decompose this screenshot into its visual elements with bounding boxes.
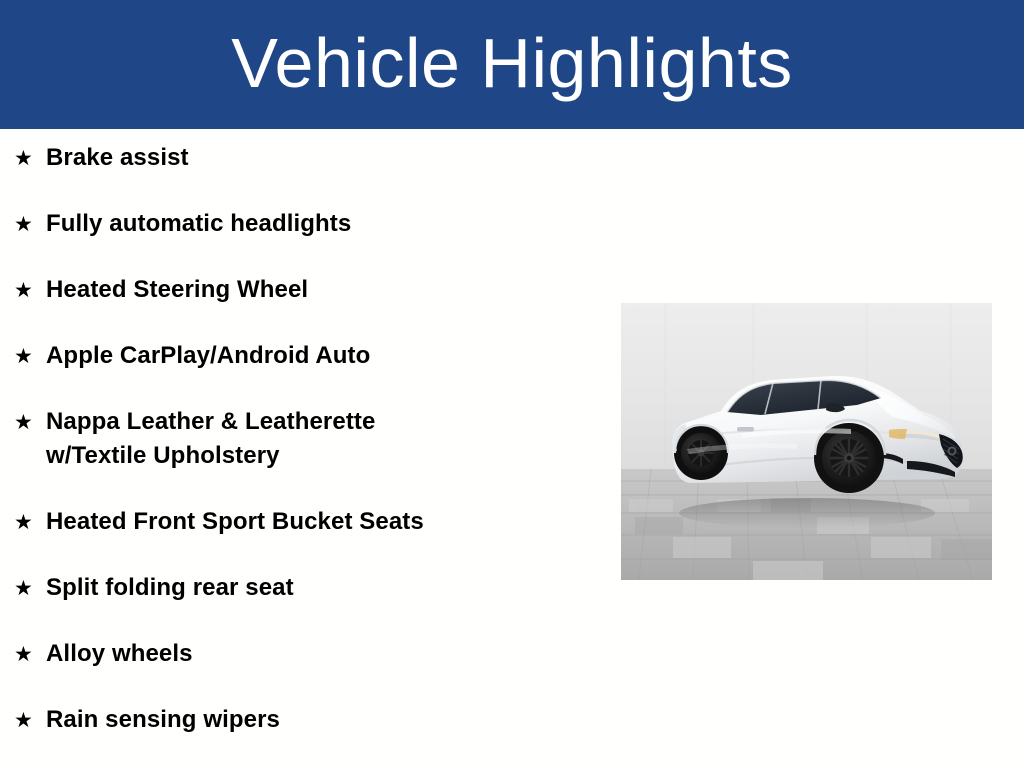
feature-label: Heated Front Sport Bucket Seats bbox=[46, 505, 612, 539]
list-item: ★ Rain sensing wipers bbox=[12, 703, 612, 737]
star-bullet-icon: ★ bbox=[12, 339, 46, 373]
list-item: ★ Split folding rear seat bbox=[12, 571, 612, 605]
header-banner: Vehicle Highlights bbox=[0, 0, 1024, 129]
feature-label: Nappa Leather & Leatherette w/Textile Up… bbox=[46, 405, 612, 473]
star-bullet-icon: ★ bbox=[12, 405, 46, 439]
list-item: ★ Heated Steering Wheel bbox=[12, 273, 612, 307]
star-bullet-icon: ★ bbox=[12, 571, 46, 605]
feature-label: Rain sensing wipers bbox=[46, 703, 612, 737]
feature-label: Brake assist bbox=[46, 141, 612, 175]
feature-label-line: w/Textile Upholstery bbox=[46, 439, 612, 473]
feature-label: Split folding rear seat bbox=[46, 571, 612, 605]
list-item: ★ Alloy wheels bbox=[12, 637, 612, 671]
feature-label: Alloy wheels bbox=[46, 637, 612, 671]
vehicle-photo-image bbox=[621, 303, 992, 580]
list-item: ★ Fully automatic headlights bbox=[12, 207, 612, 241]
vehicle-features-list: ★ Brake assist ★ Fully automatic headlig… bbox=[12, 141, 612, 768]
star-bullet-icon: ★ bbox=[12, 505, 46, 539]
star-bullet-icon: ★ bbox=[12, 637, 46, 671]
list-item: ★ Nappa Leather & Leatherette w/Textile … bbox=[12, 405, 612, 473]
vehicle-photo bbox=[621, 303, 992, 580]
star-bullet-icon: ★ bbox=[12, 273, 46, 307]
feature-label: Fully automatic headlights bbox=[46, 207, 612, 241]
list-item: ★ Brake assist bbox=[12, 141, 612, 175]
slide: Vehicle Highlights ★ Brake assist ★ Full… bbox=[0, 0, 1024, 768]
feature-label: Heated Steering Wheel bbox=[46, 273, 612, 307]
feature-label-line: Nappa Leather & Leatherette bbox=[46, 405, 612, 439]
star-bullet-icon: ★ bbox=[12, 141, 46, 175]
page-title: Vehicle Highlights bbox=[231, 28, 793, 102]
list-item: ★ Heated Front Sport Bucket Seats bbox=[12, 505, 612, 539]
list-item: ★ Apple CarPlay/Android Auto bbox=[12, 339, 612, 373]
feature-label: Apple CarPlay/Android Auto bbox=[46, 339, 612, 373]
star-bullet-icon: ★ bbox=[12, 703, 46, 737]
star-bullet-icon: ★ bbox=[12, 207, 46, 241]
